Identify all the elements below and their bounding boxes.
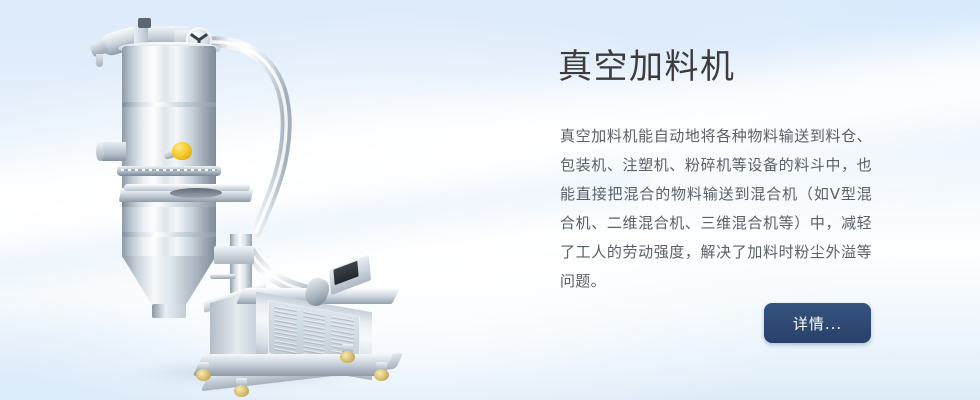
louver-column bbox=[303, 311, 326, 359]
hopper-band bbox=[122, 202, 216, 207]
banner-content: 真空加料机 真空加料机能自动地将各种物料输送到料仓、包装机、注塑机、粉碎机等设备… bbox=[558, 0, 958, 400]
hopper-discharge-cone bbox=[122, 256, 216, 308]
louver-column bbox=[274, 306, 297, 354]
hopper-side-port bbox=[100, 142, 126, 161]
product-image bbox=[78, 6, 408, 398]
vacuum-pump-drain bbox=[96, 54, 103, 67]
base-frame bbox=[193, 354, 394, 376]
hopper-band bbox=[122, 232, 216, 237]
vacuum-pump-knob bbox=[138, 18, 151, 28]
hopper-clamp-ring bbox=[117, 166, 221, 176]
inlet-fan-blade bbox=[198, 33, 208, 41]
details-button[interactable]: 详情... bbox=[764, 303, 871, 343]
caster-wheel bbox=[196, 362, 211, 381]
caster-wheel bbox=[340, 344, 355, 363]
product-description: 真空加料机能自动地将各种物料输送到料仓、包装机、注塑机、粉碎机等设备的料斗中，也… bbox=[560, 122, 872, 296]
mast-adjust-handle bbox=[210, 274, 236, 279]
product-hero-banner: 真空加料机 真空加料机能自动地将各种物料输送到料仓、包装机、注塑机、粉碎机等设备… bbox=[0, 0, 980, 400]
hopper-outlet bbox=[152, 304, 186, 318]
page-title: 真空加料机 bbox=[558, 46, 736, 88]
mast-bracket bbox=[214, 246, 254, 264]
caster-wheel bbox=[374, 362, 389, 381]
hopper-band bbox=[122, 102, 216, 107]
caster-wheel bbox=[234, 378, 249, 397]
valve-knob bbox=[172, 142, 192, 160]
yellow-valve-handle bbox=[164, 142, 192, 164]
